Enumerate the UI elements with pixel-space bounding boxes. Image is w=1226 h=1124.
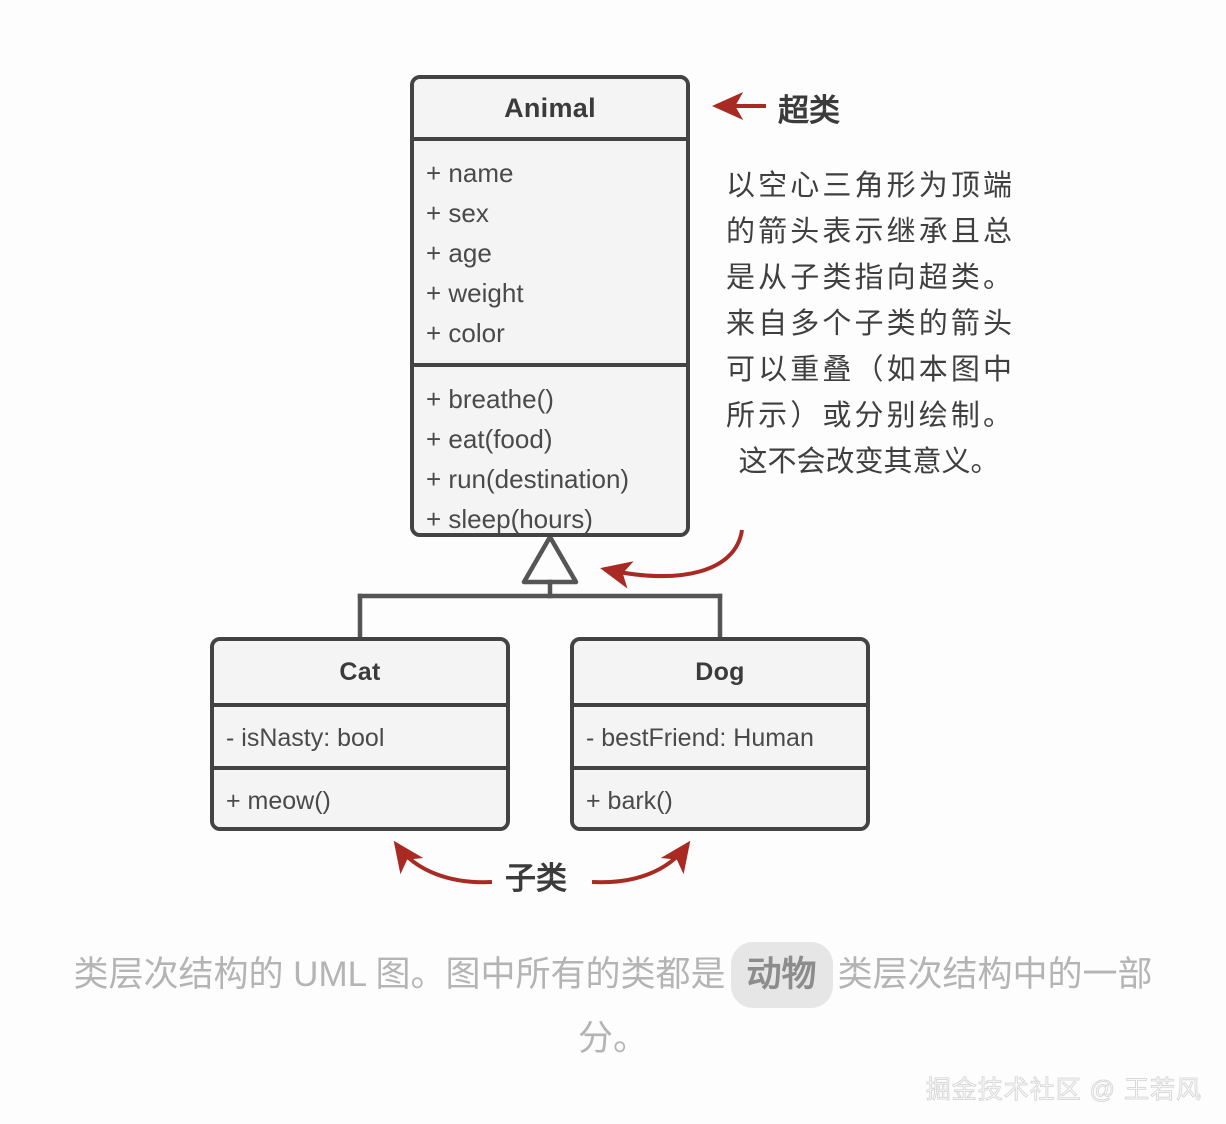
class-box-dog[interactable]: Dog - bestFriend: Human + bark()	[570, 637, 870, 831]
annotation-paragraph: 以空心三角形为顶端的箭头表示继承且总是从子类指向超类。来自多个子类的箭头可以重叠…	[726, 163, 1012, 485]
class-name-animal: Animal	[414, 79, 686, 137]
operation-row: + sleep(hours)	[414, 499, 686, 537]
attribute-row: + name	[414, 153, 686, 193]
caption-badge-animal: 动物	[731, 942, 833, 1008]
arrow-to-cat	[396, 844, 492, 882]
attribute-row: + color	[414, 313, 686, 353]
diagram-canvas: Animal + name + sex + age + weight + col…	[0, 0, 1226, 1124]
attribute-row: - isNasty: bool	[214, 707, 506, 770]
class-title-compartment: Cat	[214, 641, 506, 703]
operation-row: + meow()	[214, 770, 506, 831]
class-box-animal[interactable]: Animal + name + sex + age + weight + col…	[410, 75, 690, 537]
attribute-row: + weight	[414, 273, 686, 313]
class-name-cat: Cat	[214, 641, 506, 703]
class-operations-compartment: + bark()	[574, 766, 866, 829]
class-title-compartment: Animal	[414, 79, 686, 137]
attribute-row: + age	[414, 233, 686, 273]
annotation-label-subclass: 子类	[505, 853, 567, 898]
attribute-row: + sex	[414, 193, 686, 233]
class-attributes-compartment: - isNasty: bool	[214, 703, 506, 766]
class-attributes-compartment: - bestFriend: Human	[574, 703, 866, 766]
arrow-to-dog	[592, 844, 688, 882]
class-operations-compartment: + breathe() + eat(food) + run(destinatio…	[414, 363, 686, 537]
operation-row: + run(destination)	[414, 459, 686, 499]
class-title-compartment: Dog	[574, 641, 866, 703]
caption-part-1: 类层次结构的 UML 图。图中所有的类都是	[73, 955, 725, 994]
class-operations-compartment: + meow()	[214, 766, 506, 829]
operation-row: + breathe()	[414, 379, 686, 419]
hollow-triangle-icon	[524, 537, 576, 582]
class-attributes-compartment: + name + sex + age + weight + color	[414, 137, 686, 363]
annotation-label-superclass: 超类	[778, 85, 840, 130]
attribute-row: - bestFriend: Human	[574, 707, 866, 770]
operation-row: + eat(food)	[414, 419, 686, 459]
class-name-dog: Dog	[574, 641, 866, 703]
figure-caption: 类层次结构的 UML 图。图中所有的类都是动物类层次结构中的一部分。	[60, 942, 1166, 1070]
watermark: 掘金技术社区 @ 王若风	[926, 1070, 1202, 1106]
operation-row: + bark()	[574, 770, 866, 831]
class-box-cat[interactable]: Cat - isNasty: bool + meow()	[210, 637, 510, 831]
